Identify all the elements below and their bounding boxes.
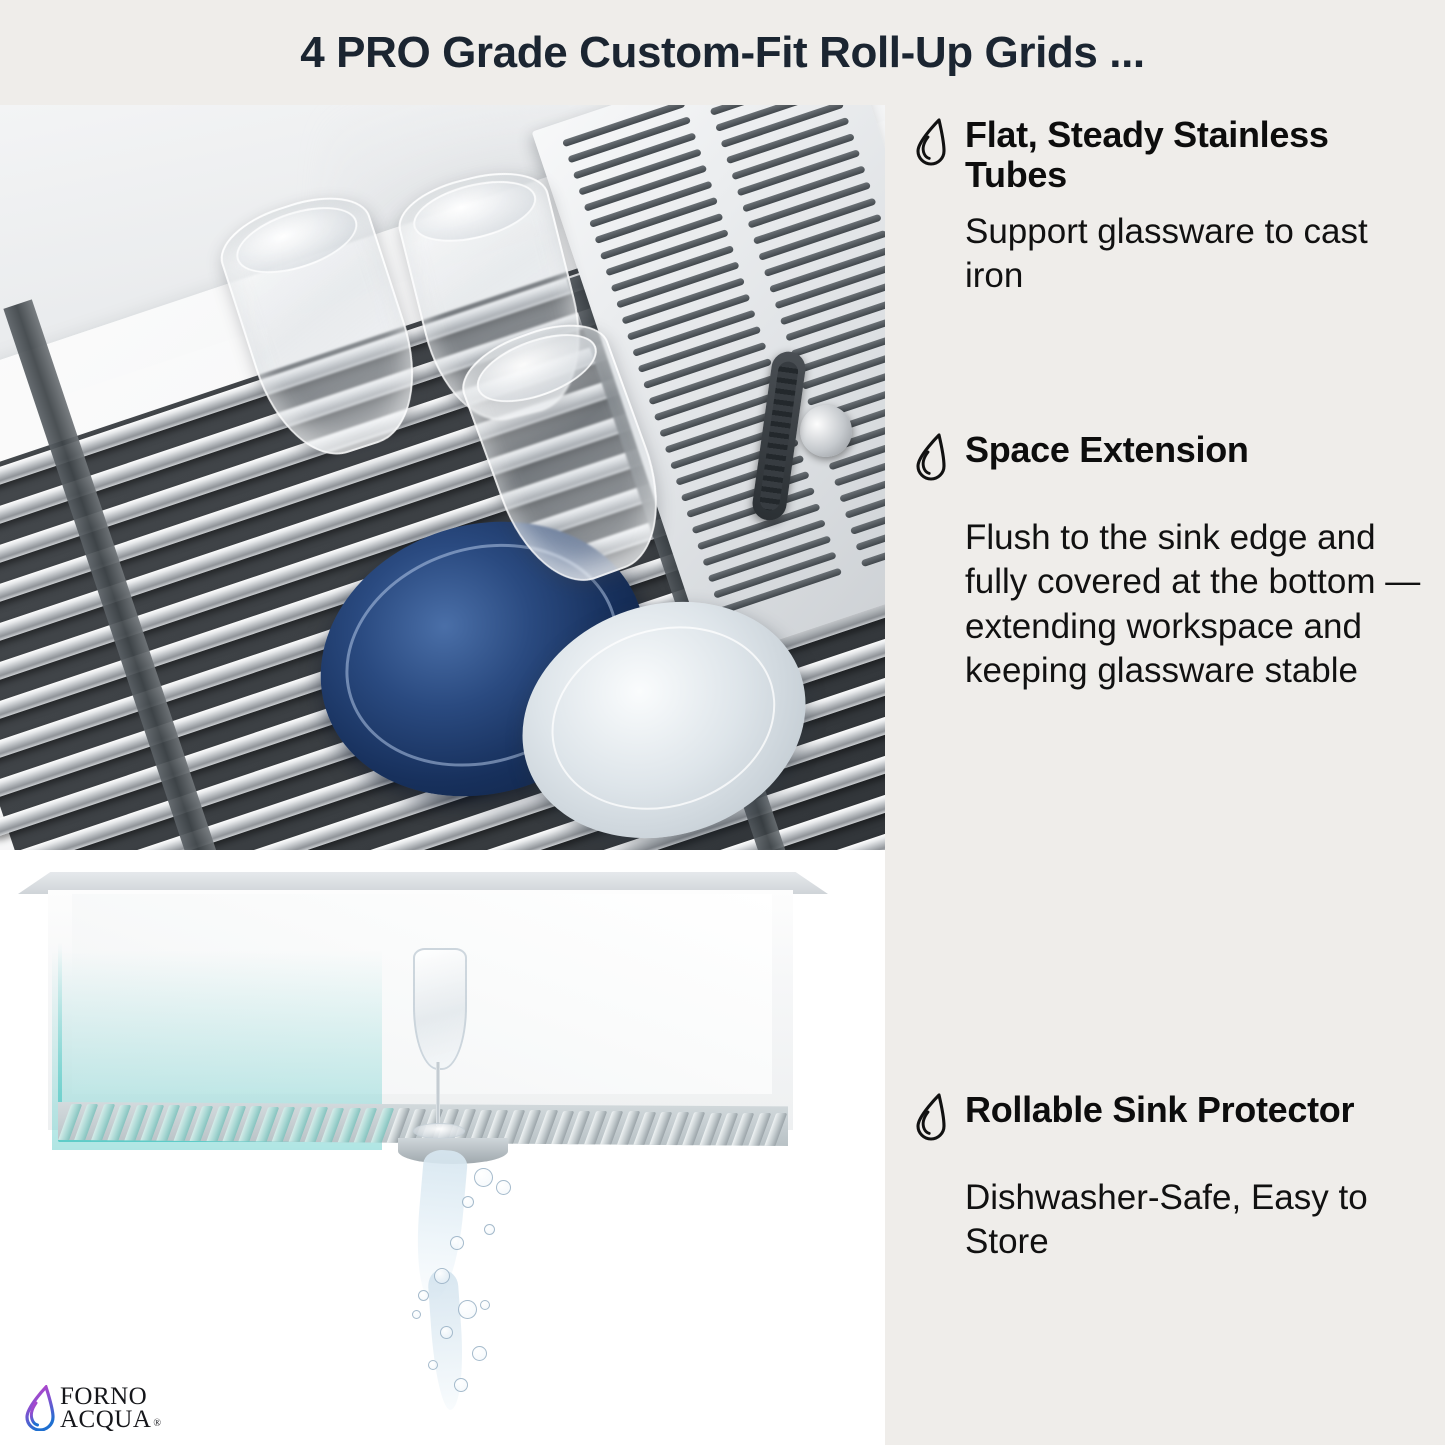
top-product-photo: [0, 105, 885, 850]
logo-line-2: ACQUA: [60, 1408, 151, 1431]
logo-line-2-wrap: ACQUA ®: [60, 1408, 162, 1431]
brand-logo: FORNO ACQUA ®: [22, 1385, 162, 1431]
water-bubble: [412, 1310, 421, 1319]
water-drop-icon: [911, 117, 951, 167]
feature-heading-row: Rollable Sink Protector: [885, 1090, 1445, 1142]
bottom-product-render: [0, 850, 885, 1445]
wine-glass: [405, 948, 471, 1143]
features-column: Flat, Steady Stainless Tubes Support gla…: [885, 105, 1445, 1445]
water-bubble: [434, 1268, 450, 1284]
feature-heading-row: Flat, Steady Stainless Tubes: [885, 115, 1445, 196]
water-bubble: [472, 1346, 487, 1361]
feature-title: Flat, Steady Stainless Tubes: [965, 115, 1429, 196]
feature-item-3: Rollable Sink Protector Dishwasher-Safe,…: [885, 1090, 1445, 1265]
brand-wordmark: FORNO ACQUA ®: [60, 1385, 162, 1431]
water-bubble: [484, 1224, 495, 1235]
water-splash: [388, 1150, 538, 1420]
water-bubble: [496, 1180, 511, 1195]
feature-body: Support glassware to cast iron: [885, 210, 1445, 299]
feature-body: Flush to the sink edge and fully covered…: [885, 516, 1445, 694]
water-bubble: [418, 1290, 429, 1301]
image-column: FORNO ACQUA ®: [0, 105, 885, 1445]
feature-title: Rollable Sink Protector: [965, 1090, 1354, 1130]
logo-line-1: FORNO: [60, 1385, 162, 1408]
water-drop-icon: [911, 432, 951, 482]
wine-glass-stem: [436, 1062, 440, 1126]
water-bubble: [428, 1360, 438, 1370]
water-bubble: [454, 1378, 468, 1392]
feature-heading-row: Space Extension: [885, 430, 1445, 482]
water-bubble: [450, 1236, 464, 1250]
page-title: 4 PRO Grade Custom-Fit Roll-Up Grids ...: [300, 28, 1145, 78]
glass-rim: [228, 194, 365, 286]
water-bubble: [474, 1168, 493, 1187]
water-bubble: [440, 1326, 453, 1339]
feature-item-1: Flat, Steady Stainless Tubes Support gla…: [885, 115, 1445, 299]
water-drop-icon: [22, 1385, 56, 1431]
wine-glass-foot: [413, 1123, 465, 1139]
wine-glass-bowl: [413, 948, 467, 1070]
water-drop-icon: [911, 1092, 951, 1142]
water-bubble: [458, 1300, 477, 1319]
feature-title: Space Extension: [965, 430, 1249, 470]
water-bubble: [462, 1196, 474, 1208]
header-bar: 4 PRO Grade Custom-Fit Roll-Up Grids ...: [0, 0, 1445, 105]
promo-infographic: 4 PRO Grade Custom-Fit Roll-Up Grids ...: [0, 0, 1445, 1445]
water-bubble: [480, 1300, 490, 1310]
registered-mark: ®: [153, 1419, 161, 1428]
feature-body: Dishwasher-Safe, Easy to Store: [885, 1176, 1445, 1265]
feature-item-2: Space Extension Flush to the sink edge a…: [885, 430, 1445, 694]
